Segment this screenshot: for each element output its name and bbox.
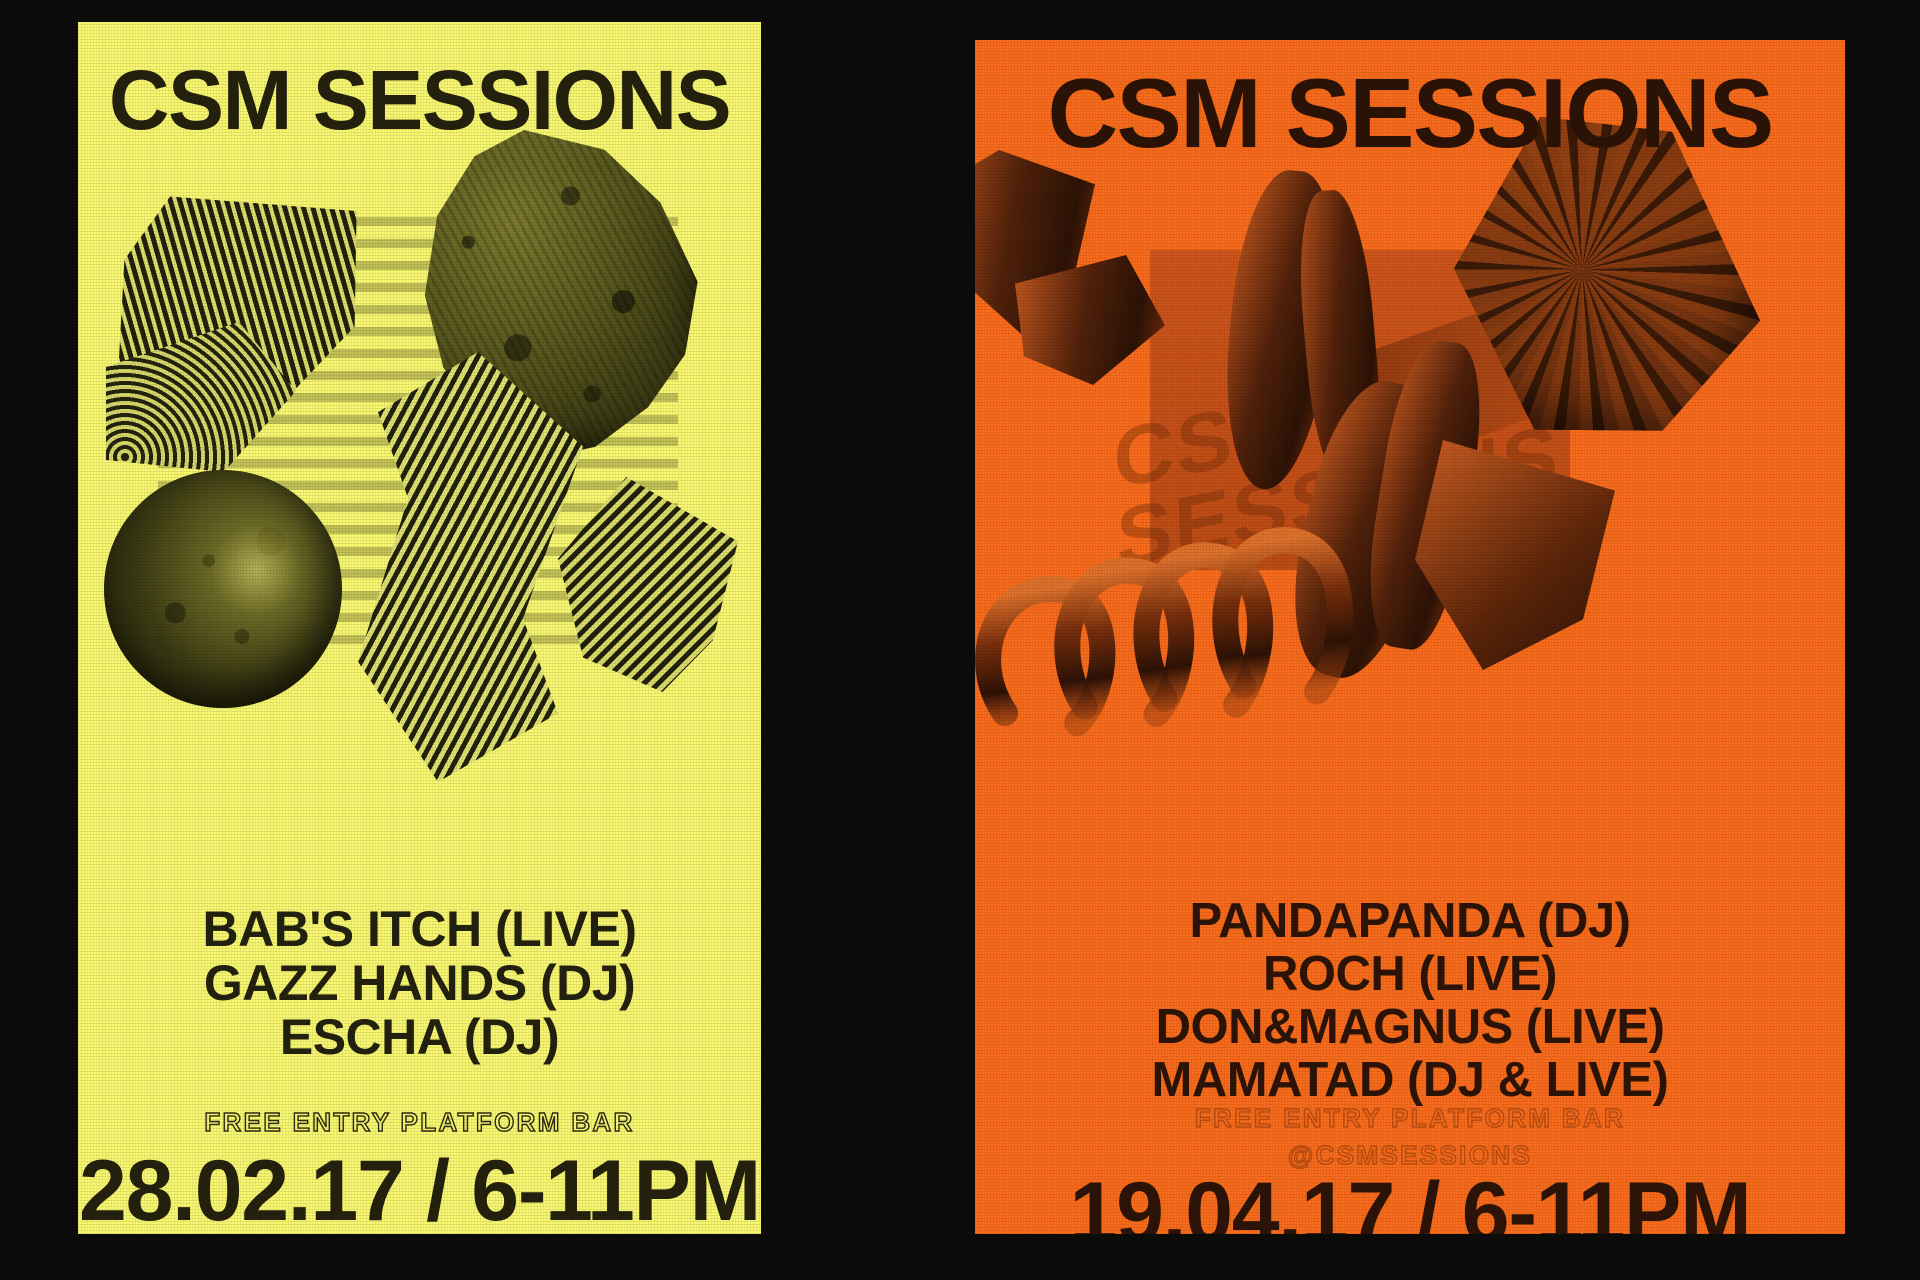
crystal-shadow-shape bbox=[1325, 310, 1585, 460]
halftone-stripe-slab bbox=[158, 217, 678, 657]
poster-right-lineup: PANDAPANDA (DJ) ROCH (LIVE) DON&MAGNUS (… bbox=[975, 895, 1845, 1107]
blade-collage-shape bbox=[1270, 370, 1459, 690]
striped-chevron-shape bbox=[558, 477, 738, 692]
blade-collage-shape bbox=[1015, 255, 1165, 385]
lineup-act: ESCHA (DJ) bbox=[78, 1010, 761, 1064]
wedge-collage-shape bbox=[1415, 440, 1615, 670]
striped-fan-secondary-shape bbox=[106, 322, 296, 472]
lineup-act: BAB'S ITCH (LIVE) bbox=[78, 902, 761, 956]
poster-left-title: CSM SESSIONS bbox=[78, 58, 761, 142]
lineup-act: DON&MAGNUS (LIVE) bbox=[975, 1001, 1845, 1054]
ghost-watermark-text: CSM SESSIONS bbox=[1112, 320, 1638, 589]
lineup-act: MAMATAD (DJ & LIVE) bbox=[975, 1054, 1845, 1107]
lineup-act: PANDAPANDA (DJ) bbox=[975, 895, 1845, 948]
sphere-collage-shape bbox=[104, 470, 342, 708]
blade-collage-shape bbox=[975, 150, 1095, 340]
poster-left-date-line: 28.02.17 / 6-11PM bbox=[78, 1148, 761, 1234]
poster-left-lineup: BAB'S ITCH (LIVE) GAZZ HANDS (DJ) ESCHA … bbox=[78, 902, 761, 1064]
poster-right-title: CSM SESSIONS bbox=[975, 64, 1845, 162]
poster-right-date-line: 19.04.17 / 6-11PM bbox=[975, 1170, 1845, 1234]
striped-fan-shape bbox=[105, 184, 370, 431]
poster-right-footer-line: FREE ENTRY PLATFORM BAR bbox=[975, 1103, 1845, 1134]
poster-csm-sessions-february[interactable]: CSM SESSIONS BAB'S ITCH (LIVE) GAZZ HAND… bbox=[78, 22, 761, 1234]
poster-left-footer-line: FREE ENTRY PLATFORM BAR bbox=[78, 1107, 761, 1138]
lineup-act: ROCH (LIVE) bbox=[975, 948, 1845, 1001]
blade-collage-shape bbox=[1356, 335, 1493, 655]
blade-collage-shape bbox=[1214, 166, 1347, 495]
blade-collage-shape bbox=[1292, 188, 1388, 493]
poster-canvas: CSM SESSIONS BAB'S ITCH (LIVE) GAZZ HAND… bbox=[0, 0, 1920, 1280]
striped-ribbon-shape bbox=[333, 352, 583, 782]
halftone-slab bbox=[1150, 250, 1570, 570]
lineup-act: GAZZ HANDS (DJ) bbox=[78, 956, 761, 1010]
coiled-spring-shape bbox=[975, 452, 1394, 808]
poster-csm-sessions-april[interactable]: CSM SESSIONS bbox=[975, 40, 1845, 1234]
rock-collage-shape bbox=[400, 130, 710, 460]
